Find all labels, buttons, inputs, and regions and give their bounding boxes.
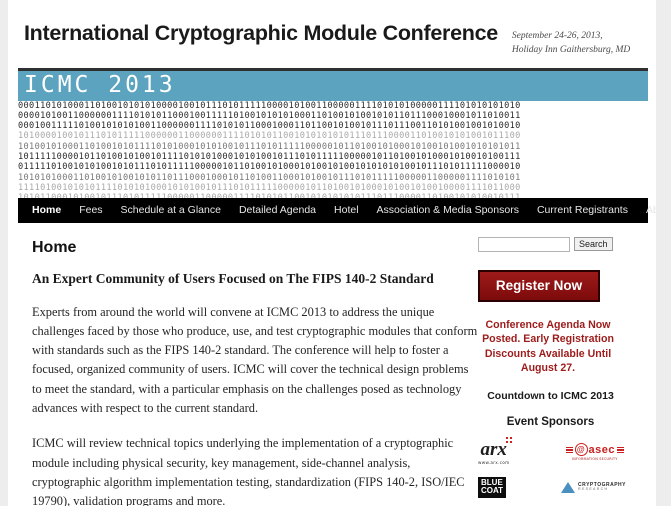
nav-item-association-media-sponsors[interactable]: Association & Media Sponsors [377, 204, 519, 216]
binary-row: 1011111000010110100101001011110101010001… [18, 152, 648, 162]
binary-row: 0001101010001101001010101000010010111010… [18, 101, 648, 111]
binary-row: 0000101001100000011110101011000100111110… [18, 111, 648, 121]
nav-item-fees[interactable]: Fees [79, 204, 102, 216]
page-title: International Cryptographic Module Confe… [24, 22, 498, 46]
binary-row: 1010010100011010010101111010100010101001… [18, 142, 648, 152]
binary-row: 1010110001010010111010111110000011000001… [18, 193, 648, 197]
banner: ICMC 2013 000110101000110100101010100001… [18, 68, 648, 198]
page-container: International Cryptographic Module Confe… [8, 0, 656, 506]
register-now-button[interactable]: Register Now [478, 270, 600, 302]
cryptography-research-wordmark: CRYPTOGRAPHY RESEARCH [561, 482, 626, 493]
binary-background: 0001101010001101001010101000010010111010… [18, 101, 648, 198]
sponsor-logo-arx[interactable]: arx www.arx.com [478, 440, 509, 465]
bluecoat-wordmark: BLUE COAT [478, 477, 506, 498]
paragraph-1: Experts from around the world will conve… [32, 303, 478, 419]
nav-item-about-icmc[interactable]: About ICMC [646, 204, 656, 216]
header-tagline: September 24-26, 2013, Holiday Inn Gaith… [512, 30, 632, 58]
sponsor-row-2: BLUE COAT CRYPTOGRAPHY RESEARCH [478, 477, 626, 498]
nav-item-schedule-at-a-glance[interactable]: Schedule at a Glance [121, 204, 221, 216]
paragraph-2: ICMC will review technical topics underl… [32, 434, 478, 506]
arx-wordmark: arx [481, 440, 507, 459]
countdown-label: Countdown to ICMC 2013 [478, 390, 623, 402]
binary-row: 0111110100101010010101110101111100000101… [18, 162, 648, 172]
bluecoat-line-2: COAT [481, 487, 503, 496]
sponsor-logo-cryptography-research[interactable]: CRYPTOGRAPHY RESEARCH [561, 482, 626, 493]
sponsor-logo-bluecoat[interactable]: BLUE COAT [478, 477, 506, 498]
banner-logo-strip: ICMC 2013 [18, 71, 648, 101]
announcement-text: Conference Agenda Now Posted. Early Regi… [478, 318, 618, 376]
nav-item-hotel[interactable]: Hotel [334, 204, 359, 216]
triangle-icon [561, 482, 575, 493]
event-sponsors-heading: Event Sponsors [478, 416, 623, 428]
sponsor-row-1: arx www.arx.com @ asec [478, 440, 626, 465]
sidebar: Search Register Now Conference Agenda No… [478, 223, 638, 506]
sponsor-logo-asec[interactable]: @ asec INFORMATION SECURITY [564, 443, 626, 461]
asec-bars-right-icon [617, 447, 624, 454]
main-column: Home An Expert Community of Users Focuse… [18, 223, 478, 506]
binary-row: 1010000100101110101111100000011000000111… [18, 131, 648, 141]
content-heading: Home [32, 239, 478, 257]
arx-url: www.arx.com [478, 460, 509, 465]
main-navigation[interactable]: HomeFeesSchedule at a GlanceDetailed Age… [18, 198, 648, 223]
binary-row: 1010101000110100101001010110111000100010… [18, 173, 648, 183]
search-button[interactable]: Search [574, 237, 613, 252]
at-symbol-icon: @ [575, 443, 588, 456]
nav-item-current-registrants[interactable]: Current Registrants [537, 204, 628, 216]
asec-text: asec [589, 444, 615, 456]
content-subheading: An Expert Community of Users Focused on … [32, 271, 478, 287]
asec-subtitle: INFORMATION SECURITY [572, 457, 618, 461]
nav-item-detailed-agenda[interactable]: Detailed Agenda [239, 204, 316, 216]
nav-item-home[interactable]: Home [32, 204, 61, 216]
search-form[interactable]: Search [478, 237, 638, 252]
search-input[interactable] [478, 237, 570, 252]
arx-dots-icon [506, 437, 514, 445]
cr-text: CRYPTOGRAPHY RESEARCH [578, 483, 626, 492]
banner-logo-text: ICMC 2013 [24, 74, 176, 97]
content-wrapper: Home An Expert Community of Users Focuse… [8, 223, 656, 506]
binary-row: 1111010010101011110101010001010100101110… [18, 183, 648, 193]
binary-row: 0001001111101001010101001100000011110101… [18, 121, 648, 131]
asec-bars-left-icon [566, 447, 573, 454]
site-header: International Cryptographic Module Confe… [8, 0, 656, 64]
asec-wordmark: @ asec [564, 443, 626, 456]
cr-line-2: RESEARCH [578, 488, 626, 492]
